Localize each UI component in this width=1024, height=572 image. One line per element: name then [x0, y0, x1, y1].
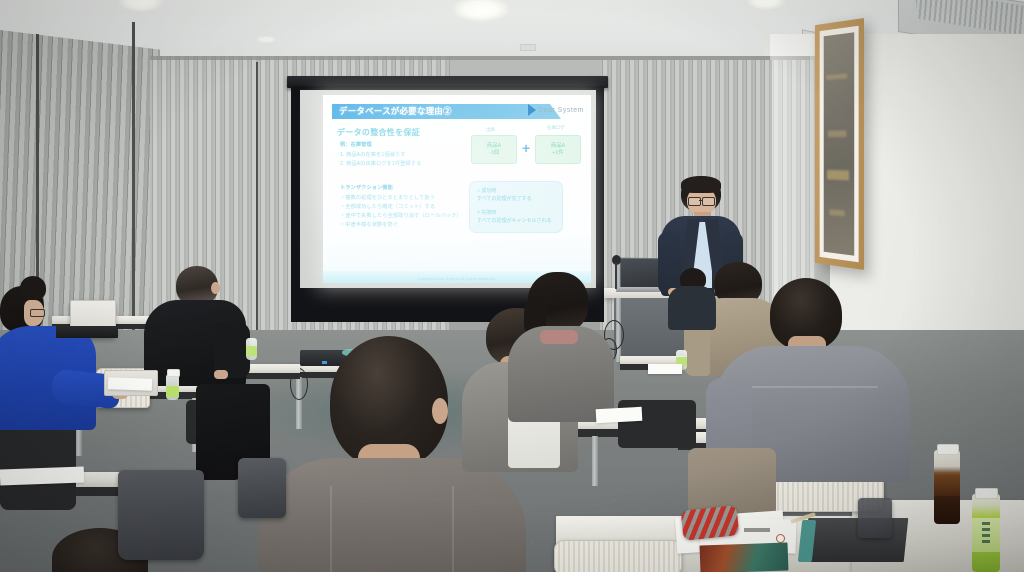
slide-transaction-label: トランザクション機能: [340, 185, 393, 192]
artwork-mat: [820, 26, 859, 263]
slide-box-right-line-2: +1件: [552, 150, 564, 157]
table-leg: [592, 436, 598, 486]
slide-transaction-line-1: ・複数の処理をひとまとまりとして扱う: [340, 195, 435, 202]
handout-paper[interactable]: [108, 377, 152, 391]
handout-paper[interactable]: [596, 407, 643, 423]
presenter-arm-right: [658, 232, 680, 294]
slide-note-line-3: × 失敗時: [477, 210, 496, 217]
wall-molding: [150, 56, 810, 60]
bottle-label: [934, 472, 960, 496]
chair: [554, 540, 682, 572]
attendee-hand: [214, 370, 228, 379]
attendee-shoulder-seam: [452, 486, 454, 572]
ceiling-sensor: [520, 44, 536, 51]
slide-plus-icon: +: [522, 141, 530, 155]
attendee-yoke-seam: [752, 386, 878, 388]
slide-box-left-caption: 出庫: [486, 127, 495, 133]
slide-transaction-line-4: ・中途半端な状態を防ぐ: [340, 222, 398, 229]
slide-note-line-4: すべての処理がキャンセルされる: [477, 218, 551, 225]
presenter-glasses-icon: [702, 197, 715, 206]
slide-heading: データの整合性を保証: [337, 127, 420, 138]
chair: [0, 420, 76, 510]
downlight-icon: [256, 36, 276, 43]
bottle-label: [246, 346, 257, 356]
dear-system-logo-icon: [528, 104, 536, 116]
slide-box-right-caption: 在庫ログ: [547, 125, 565, 131]
slide-box-left-line-2: -1個: [489, 150, 499, 157]
attendee-ear: [432, 398, 448, 424]
slide-note-line-1: ○ 成功時: [477, 188, 496, 195]
black-binder[interactable]: [804, 518, 909, 562]
attendee-body: [668, 286, 716, 330]
bag[interactable]: [858, 498, 892, 538]
bag[interactable]: [238, 458, 286, 518]
framed-artwork: [815, 18, 864, 270]
artwork-canvas: [824, 32, 854, 255]
attendee-shoulder-seam: [330, 486, 332, 572]
laptop-keyboard[interactable]: [56, 326, 118, 338]
presenter-glasses-bridge: [699, 200, 702, 201]
slide-transaction-line-3: ・途中で失敗したら全部取り消す（ロールバック）: [340, 213, 462, 220]
attendee-body: [258, 458, 526, 572]
slide-logo-text: Dear System: [538, 107, 584, 114]
slide-note-line-2: すべての処理が完了する: [477, 196, 531, 203]
attendee-glasses-icon: [30, 309, 45, 317]
slide-title: データベースが必要な理由②: [339, 105, 549, 118]
seminar-room-photo: データベースが必要な理由② Dear System データの整合性を保証 例：在…: [0, 0, 1024, 572]
bottle-cap: [167, 369, 180, 377]
slide-example-line-2: 2. 商品Aの出庫ログを1件登録する: [340, 161, 421, 168]
attendee-collar: [540, 330, 578, 344]
striped-pouch[interactable]: [681, 505, 740, 541]
slide-transaction-line-2: ・全部成功したら確定（コミット）する: [340, 204, 435, 211]
bottle-label-text: [982, 522, 990, 546]
slide-note-box: ○ 成功時 すべての処理が完了する × 失敗時 すべての処理がキャンセルされる: [469, 181, 563, 233]
microphone-stem: [615, 263, 617, 289]
slide-example-label: 例：在庫管理: [340, 142, 372, 149]
handout-paper[interactable]: [0, 467, 84, 486]
attendee-head: [20, 276, 46, 300]
slide-box-right: 商品A +1件: [535, 135, 581, 164]
color-brochure[interactable]: [700, 542, 789, 572]
slide-example-line-1: 1. 商品Aの在庫を1個減らす: [340, 152, 405, 159]
slide-logo: Dear System: [528, 104, 584, 116]
slide-box-left-line-1: 商品A: [487, 143, 501, 150]
presenter-glasses-icon: [688, 197, 701, 206]
backpack[interactable]: [118, 470, 204, 560]
attendee-ear: [211, 282, 220, 294]
wall-seam: [256, 62, 258, 352]
handout-paper[interactable]: [648, 364, 682, 374]
paper-print-mark: [744, 528, 770, 532]
projector-indicator-icon: [322, 361, 327, 364]
bottle-label: [166, 386, 179, 397]
presenter-hair-front: [681, 176, 721, 193]
slide-box-left: 商品A -1個: [471, 135, 517, 164]
presentation-slide: データベースが必要な理由② Dear System データの整合性を保証 例：在…: [323, 95, 591, 283]
slide-footer-text: Copyright Dear System All Rights Reserve…: [418, 276, 496, 281]
wall-seam: [132, 22, 135, 342]
slide-box-right-line-1: 商品A: [551, 143, 565, 150]
bottle-cap: [975, 488, 998, 499]
bottle-cap: [937, 444, 959, 455]
